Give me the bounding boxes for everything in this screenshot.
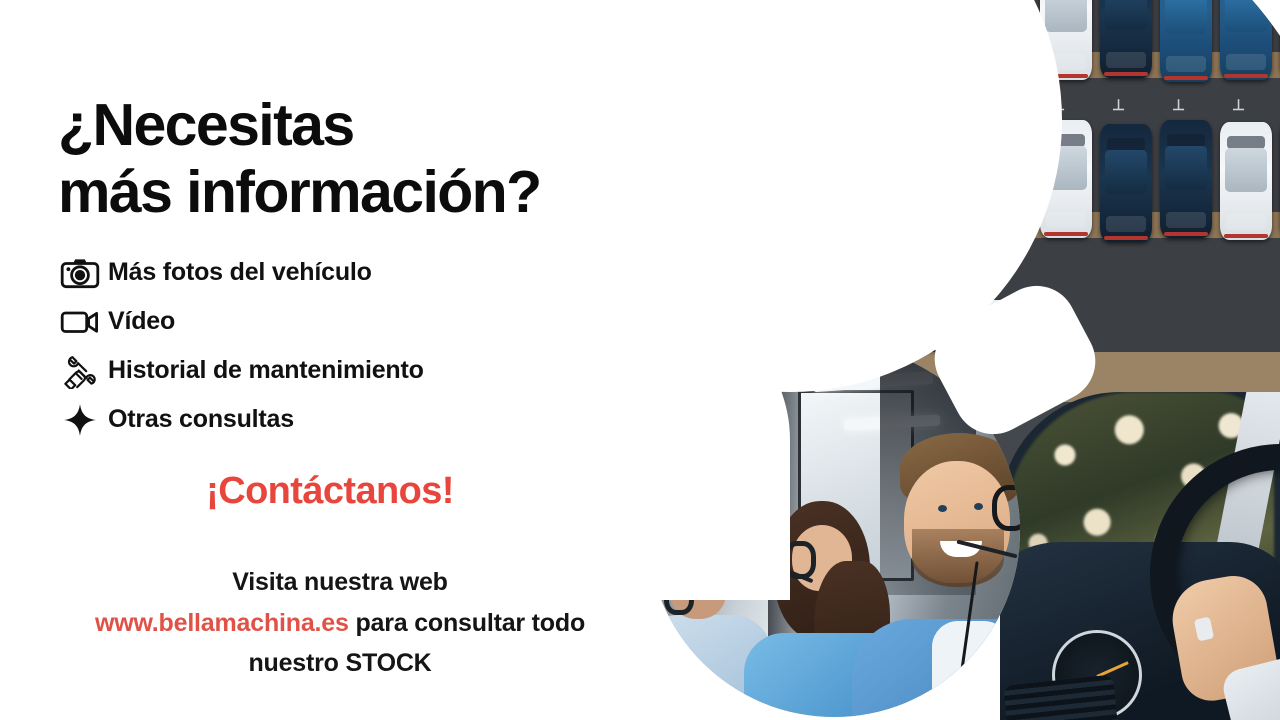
footer-line-2: www.bellamachina.es para consultar todo <box>0 603 680 644</box>
call-center-photo <box>648 345 1020 717</box>
car <box>680 120 732 238</box>
footer-line-1: Visita nuestra web <box>0 562 680 603</box>
list-item-otras: Otras consultas <box>52 395 652 444</box>
car <box>1160 120 1212 238</box>
video-icon <box>52 301 108 343</box>
list-item-video: Vídeo <box>52 297 652 346</box>
car <box>920 120 972 238</box>
list-item-label: Historial de mantenimiento <box>108 356 424 385</box>
car <box>800 120 852 238</box>
car <box>1220 0 1272 80</box>
car <box>800 0 852 82</box>
list-item-label: Más fotos del vehículo <box>108 258 372 287</box>
car <box>1220 122 1272 240</box>
car <box>860 124 912 242</box>
website-url[interactable]: www.bellamachina.es <box>95 609 349 637</box>
feature-list: Más fotos del vehículo Vídeo <box>52 248 652 444</box>
car <box>908 300 1026 350</box>
list-item-label: Vídeo <box>108 307 175 336</box>
camera-icon <box>52 252 108 294</box>
list-item-label: Otras consultas <box>108 405 294 434</box>
car <box>1040 120 1092 238</box>
car <box>1160 0 1212 82</box>
driving-photo <box>1000 392 1280 720</box>
footer-text: Visita nuestra web www.bellamachina.es p… <box>0 562 680 684</box>
car <box>740 122 792 240</box>
sparkle-icon <box>52 399 108 441</box>
agent-smiling-man <box>860 433 1020 717</box>
car <box>1100 0 1152 78</box>
car <box>1040 0 1092 80</box>
wrench-hand-icon <box>52 350 108 392</box>
car <box>920 0 972 78</box>
car <box>680 0 732 80</box>
list-item-mas-fotos: Más fotos del vehículo <box>52 248 652 297</box>
content-column: ¿Necesitas más información? Más fotos de… <box>0 0 660 720</box>
poster-canvas: + + + + + + + + + + + ⊥ ⊥ ⊥ ⊥ ⊥ ⊥ <box>0 0 1280 720</box>
car <box>740 0 792 78</box>
footer-line-3: nuestro STOCK <box>0 643 680 684</box>
car <box>860 0 912 80</box>
car <box>1100 124 1152 242</box>
page-title: ¿Necesitas más información? <box>58 92 668 228</box>
contact-cta[interactable]: ¡Contáctanos! <box>0 470 660 513</box>
car <box>980 122 1032 240</box>
car <box>980 0 1032 82</box>
footer-line-2-rest: para consultar todo <box>349 609 585 637</box>
list-item-historial: Historial de mantenimiento <box>52 346 652 395</box>
